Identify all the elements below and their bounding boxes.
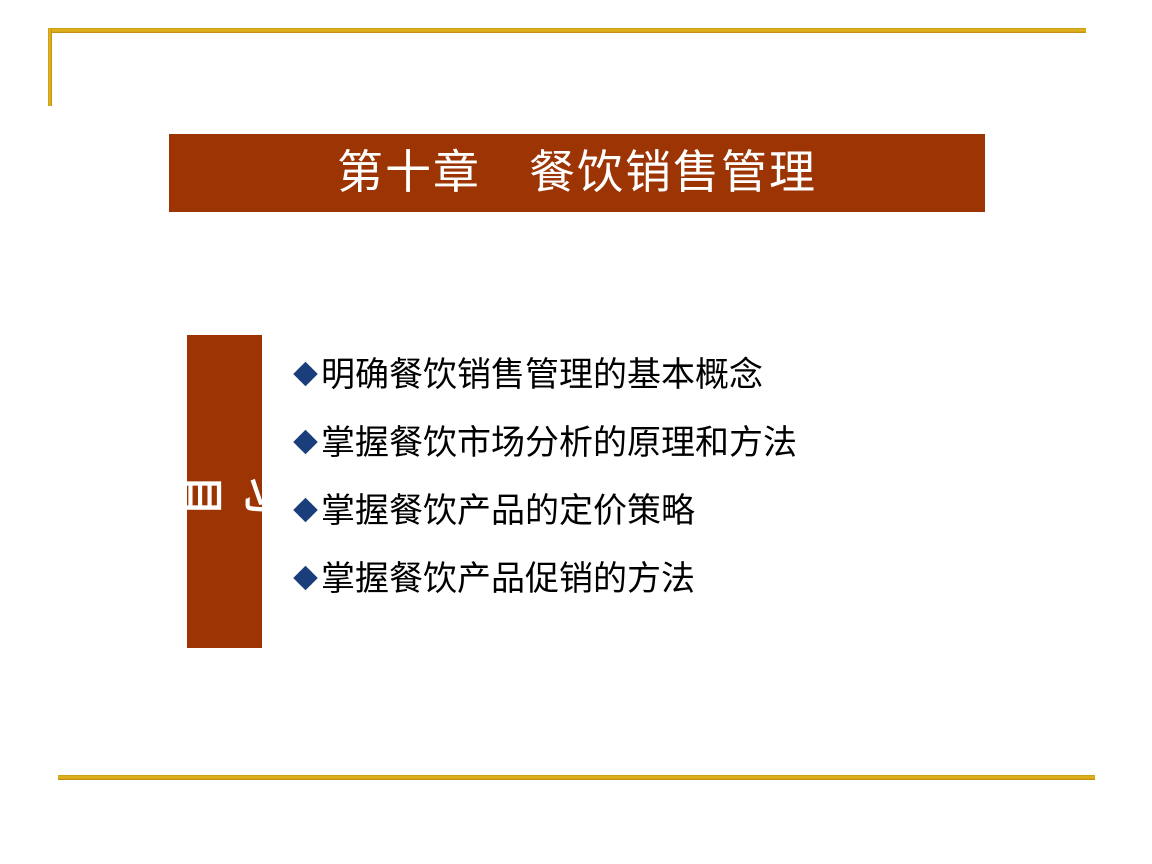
list-item: 掌握餐饮产品促销的方法 — [292, 559, 992, 627]
objectives-list: 明确餐饮销售管理的基本概念 掌握餐饮市场分析的原理和方法 — [292, 355, 992, 627]
objective-text: 掌握餐饮市场分析的原理和方法 — [321, 423, 797, 466]
diamond-bullet-icon — [292, 492, 319, 526]
objective-text: 明确餐饮销售管理的基本概念 — [321, 355, 763, 398]
list-item: 掌握餐饮产品的定价策略 — [292, 491, 992, 559]
diamond-bullet-icon — [292, 424, 319, 458]
objective-text: 掌握餐饮产品促销的方法 — [321, 559, 695, 602]
slide-title: 第十章 餐饮销售管理 — [337, 150, 817, 196]
presentation-slide: 第十章 餐饮销售管理 学习目标 明确餐饮销售管理的基本概念 — [0, 0, 1152, 864]
top-gold-rule — [48, 28, 1086, 33]
title-banner: 第十章 餐饮销售管理 — [169, 134, 985, 212]
list-item: 明确餐饮销售管理的基本概念 — [292, 355, 992, 423]
section-label-bar: 学习目标 — [187, 335, 262, 648]
diamond-bullet-icon — [292, 560, 319, 594]
left-gold-rule — [48, 28, 52, 106]
bottom-gold-rule — [58, 775, 1095, 780]
diamond-bullet-icon — [292, 356, 319, 390]
list-item: 掌握餐饮市场分析的原理和方法 — [292, 423, 992, 491]
objective-text: 掌握餐饮产品的定价策略 — [321, 491, 695, 534]
